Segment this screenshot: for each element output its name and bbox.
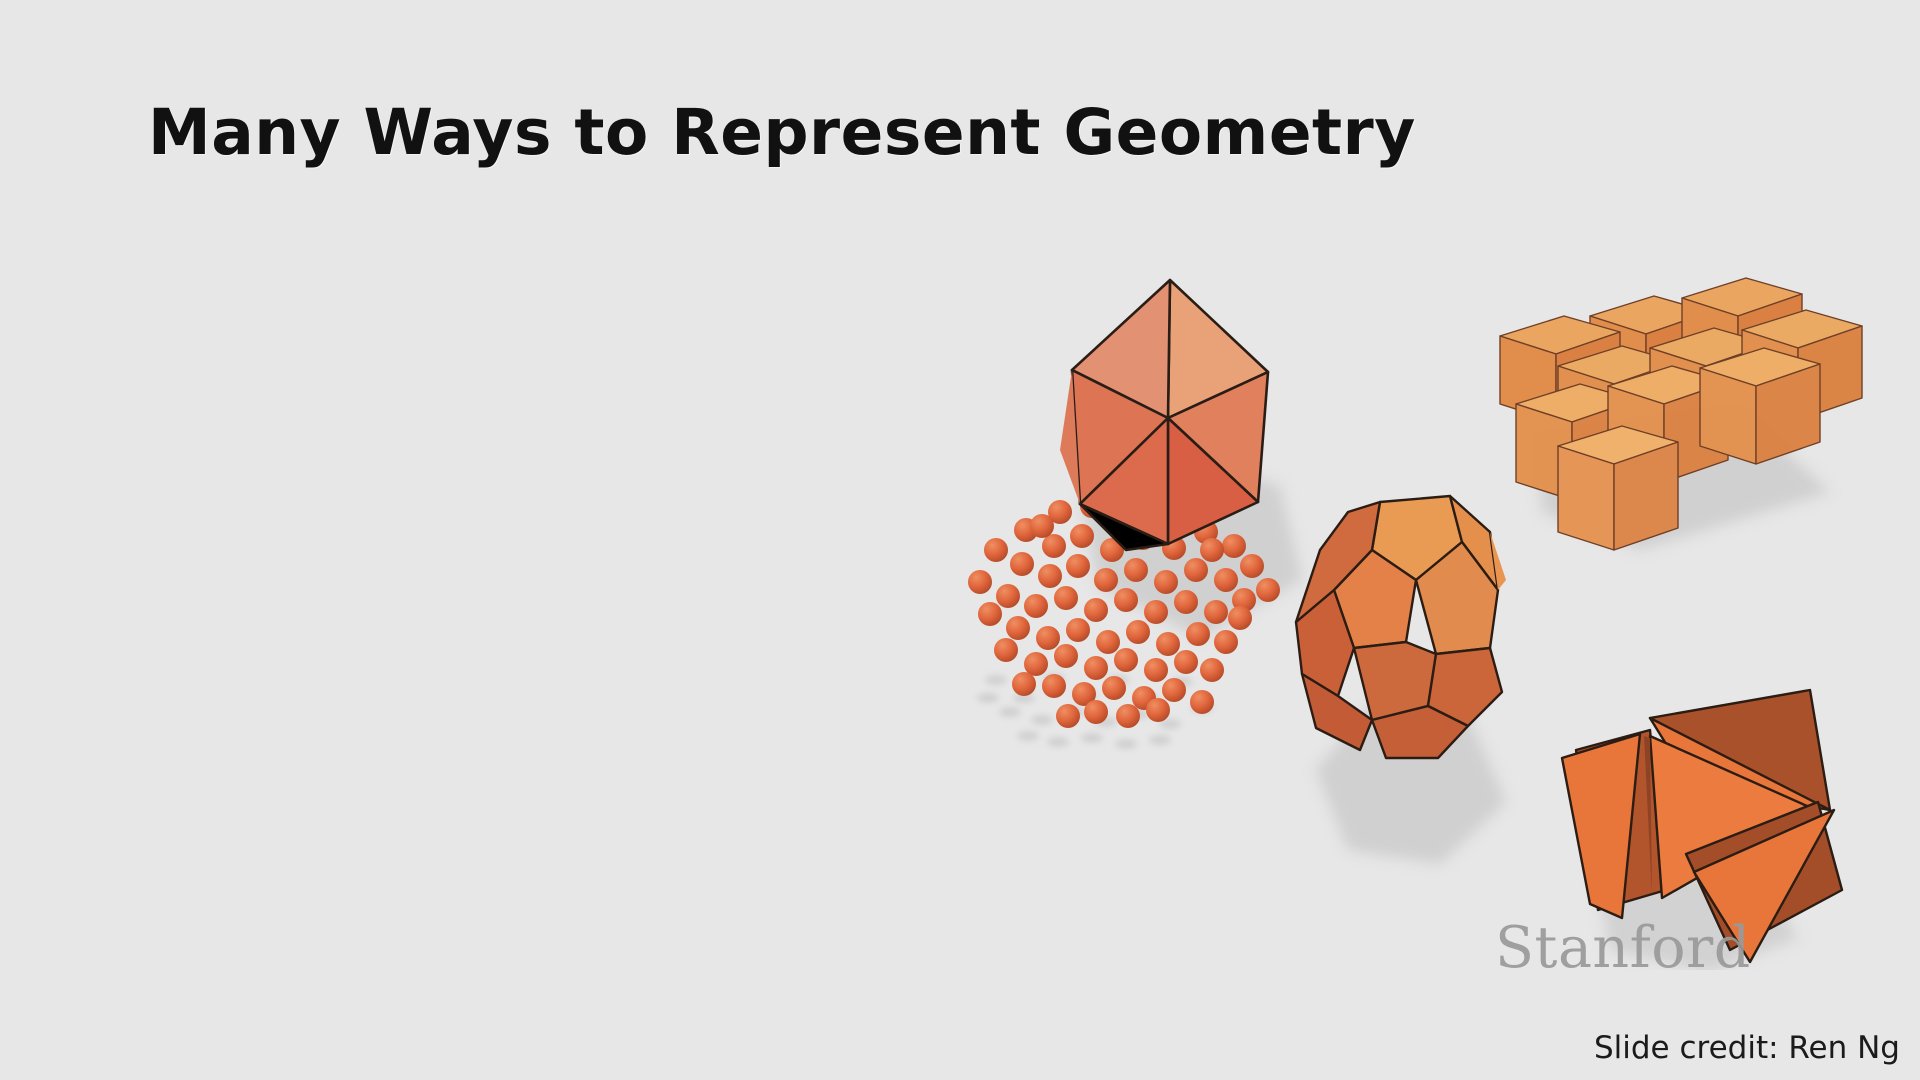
stanford-watermark: Stanford: [1495, 915, 1751, 981]
icosahedron-shape: [1060, 280, 1268, 550]
page-title: Many Ways to Represent Geometry: [148, 96, 1416, 169]
geometry-representations-figure: [950, 250, 1920, 970]
dodecahedron-shape: [1296, 496, 1506, 758]
slide-canvas: Many Ways to Represent Geometry: [0, 0, 1920, 1080]
slide-credit: Slide credit: Ren Ng: [1594, 1030, 1900, 1066]
